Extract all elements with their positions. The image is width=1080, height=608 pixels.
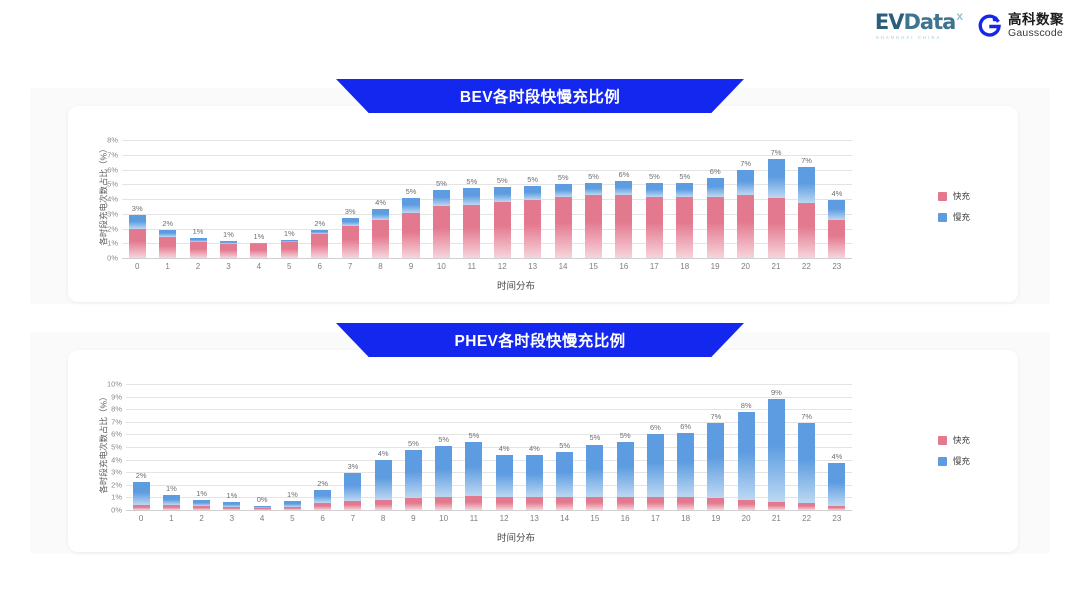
x-axis-tick: 22 xyxy=(802,514,811,523)
stacked-bar[interactable]: 5% xyxy=(463,188,480,258)
stacked-bar[interactable]: 4% xyxy=(375,460,392,510)
bar-group[interactable]: 6% xyxy=(700,140,730,258)
bar-segment-slow[interactable] xyxy=(344,473,361,500)
stacked-bar[interactable]: 5% xyxy=(556,452,573,510)
bar-segment-slow[interactable] xyxy=(676,183,693,197)
y-axis-tick: 2% xyxy=(111,480,122,489)
bar-segment-slow[interactable] xyxy=(556,452,573,497)
bar-segment-fast[interactable] xyxy=(647,497,664,510)
bar-value-label: 3% xyxy=(345,207,356,216)
x-axis-tick: 15 xyxy=(590,514,599,523)
chart-legend: 快充慢充 xyxy=(938,190,970,223)
x-axis-tick: 12 xyxy=(500,514,509,523)
bar-group[interactable]: 4% xyxy=(368,384,398,510)
bar-group[interactable]: 1% xyxy=(244,140,274,258)
legend-label: 慢充 xyxy=(953,211,970,223)
x-axis-tick: 4 xyxy=(257,262,261,271)
bar-segment-slow[interactable] xyxy=(372,209,389,221)
y-axis-tick: 0% xyxy=(111,506,122,515)
bar-segment-slow[interactable] xyxy=(163,495,180,505)
x-axis-tick: 20 xyxy=(742,514,751,523)
stacked-bar[interactable]: 1% xyxy=(163,495,180,510)
stacked-bar[interactable]: 4% xyxy=(526,455,543,510)
bar-group[interactable]: 5% xyxy=(426,140,456,258)
bar-group[interactable]: 9% xyxy=(761,384,791,510)
bar-segment-slow[interactable] xyxy=(314,490,331,504)
bar-group[interactable]: 5% xyxy=(639,140,669,258)
bar-group[interactable]: 3% xyxy=(335,140,365,258)
x-axis-label: 时间分布 xyxy=(96,530,936,544)
stacked-bar[interactable]: 8% xyxy=(738,412,755,510)
x-axis-tick: 19 xyxy=(711,514,720,523)
legend-item-slow[interactable]: 慢充 xyxy=(938,211,970,223)
gausscode-mark-icon xyxy=(977,14,1002,39)
bar-value-label: 1% xyxy=(166,484,177,493)
legend-item-fast[interactable]: 快充 xyxy=(938,434,970,446)
bar-segment-fast[interactable] xyxy=(646,197,663,258)
y-axis-tick: 5% xyxy=(107,180,118,189)
bar-segment-slow[interactable] xyxy=(707,178,724,196)
bar-segment-fast[interactable] xyxy=(159,237,176,258)
stacked-bar[interactable]: 1% xyxy=(250,243,267,258)
bar-segment-fast[interactable] xyxy=(524,200,541,258)
bar-group[interactable]: 1% xyxy=(213,140,243,258)
bar-segment-fast[interactable] xyxy=(129,229,146,258)
bar-group[interactable]: 5% xyxy=(487,140,517,258)
x-axis-tick: 20 xyxy=(741,262,750,271)
bar-segment-slow[interactable] xyxy=(798,167,815,203)
x-axis-tick: 9 xyxy=(409,262,413,271)
bar-segment-fast[interactable] xyxy=(375,500,392,510)
x-axis-tick: 6 xyxy=(320,514,324,523)
plot-area: 2%1%1%1%0%1%2%3%4%5%5%5%4%4%5%5%5%6%6%7%… xyxy=(126,384,852,510)
bar-value-label: 4% xyxy=(831,452,842,461)
bar-segment-slow[interactable] xyxy=(465,442,482,496)
bar-segment-slow[interactable] xyxy=(585,183,602,195)
bar-segment-fast[interactable] xyxy=(344,501,361,510)
x-axis-tick: 8 xyxy=(378,262,382,271)
bar-value-label: 1% xyxy=(196,489,207,498)
y-axis-tick: 4% xyxy=(107,195,118,204)
legend-swatch xyxy=(938,457,947,466)
bar-value-label: 1% xyxy=(226,491,237,500)
legend-swatch xyxy=(938,436,947,445)
stacked-bar[interactable]: 7% xyxy=(737,170,754,259)
x-axis-tick: 3 xyxy=(230,514,234,523)
bar-value-label: 5% xyxy=(406,187,417,196)
bar-segment-slow[interactable] xyxy=(555,184,572,197)
stacked-bar[interactable]: 6% xyxy=(707,178,724,258)
bar-segment-slow[interactable] xyxy=(524,186,541,200)
evdata-logo-part1: EV xyxy=(875,12,904,33)
bar-group[interactable]: 1% xyxy=(156,384,186,510)
bar-segment-fast[interactable] xyxy=(402,213,419,258)
bar-group[interactable]: 1% xyxy=(183,140,213,258)
x-axis-tick: 10 xyxy=(437,262,446,271)
x-axis-tick: 10 xyxy=(439,514,448,523)
phev-chart: 各时段充电次数占比（%）2%1%1%1%0%1%2%3%4%5%5%5%4%4%… xyxy=(96,376,936,544)
bar-segment-fast[interactable] xyxy=(463,205,480,258)
x-axis-tick: 19 xyxy=(711,262,720,271)
evdata-wordmark: EV Data x xyxy=(875,12,963,33)
y-axis-tick: 3% xyxy=(107,209,118,218)
y-axis-tick: 10% xyxy=(107,380,122,389)
x-axis-line xyxy=(126,510,852,511)
bar-segment-slow[interactable] xyxy=(405,450,422,499)
bar-group[interactable]: 1% xyxy=(187,384,217,510)
stacked-bar[interactable]: 4% xyxy=(828,200,845,258)
stacked-bar[interactable]: 2% xyxy=(159,230,176,258)
stacked-bar[interactable]: 5% xyxy=(586,445,603,511)
bar-value-label: 5% xyxy=(589,433,600,442)
bar-group[interactable]: 2% xyxy=(152,140,182,258)
bar-segment-fast[interactable] xyxy=(281,242,298,258)
bar-segment-slow[interactable] xyxy=(677,433,694,497)
stacked-bar[interactable]: 5% xyxy=(555,184,572,258)
x-axis-tick: 12 xyxy=(498,262,507,271)
bar-segment-fast[interactable] xyxy=(556,497,573,510)
stacked-bar[interactable]: 6% xyxy=(677,433,694,510)
x-axis-tick: 16 xyxy=(621,514,630,523)
bar-group[interactable]: 2% xyxy=(126,384,156,510)
bev-chart-title: BEV各时段快慢充比例 xyxy=(336,79,744,113)
bar-group[interactable]: 5% xyxy=(548,140,578,258)
bar-segment-fast[interactable] xyxy=(250,244,267,258)
legend-swatch xyxy=(938,192,947,201)
stacked-bar[interactable]: 7% xyxy=(798,423,815,510)
bar-group[interactable]: 7% xyxy=(761,140,791,258)
bar-value-label: 1% xyxy=(253,232,264,241)
bar-value-label: 2% xyxy=(162,219,173,228)
y-axis-tick: 6% xyxy=(111,430,122,439)
bar-segment-fast[interactable] xyxy=(707,197,724,258)
bar-group[interactable]: 1% xyxy=(274,140,304,258)
bar-segment-fast[interactable] xyxy=(798,203,815,258)
y-axis-tick: 4% xyxy=(111,455,122,464)
bar-group[interactable]: 5% xyxy=(457,140,487,258)
logo-group: EV Data x SHANGHAI CHINA 高科数聚 Gausscode xyxy=(875,12,1064,40)
bar-segment-slow[interactable] xyxy=(433,190,450,205)
plot-area: 3%2%1%1%1%1%2%3%4%5%5%5%5%5%5%5%6%5%5%6%… xyxy=(122,140,852,258)
stacked-bar[interactable]: 5% xyxy=(402,198,419,258)
x-axis-tick: 0 xyxy=(139,514,143,523)
y-axis-label: 各时段充电次数占比（%） xyxy=(96,376,112,510)
bar-value-label: 5% xyxy=(466,177,477,186)
stacked-bar[interactable]: 5% xyxy=(646,183,663,258)
stacked-bar[interactable]: 3% xyxy=(129,215,146,258)
y-axis-tick: 3% xyxy=(111,468,122,477)
bar-segment-slow[interactable] xyxy=(768,399,785,502)
bar-value-label: 4% xyxy=(831,189,842,198)
bar-segment-slow[interactable] xyxy=(828,463,845,506)
bar-segment-slow[interactable] xyxy=(617,442,634,497)
bar-group[interactable]: 8% xyxy=(731,384,761,510)
bar-segment-fast[interactable] xyxy=(585,195,602,258)
x-axis-tick: 18 xyxy=(681,514,690,523)
chart-legend: 快充慢充 xyxy=(938,434,970,467)
bar-segment-slow[interactable] xyxy=(646,183,663,197)
bar-value-label: 2% xyxy=(136,471,147,480)
stacked-bar[interactable]: 6% xyxy=(615,181,632,258)
x-axis-tick: 13 xyxy=(528,262,537,271)
bar-segment-fast[interactable] xyxy=(768,198,785,258)
x-axis-tick: 14 xyxy=(560,514,569,523)
x-axis-tick: 6 xyxy=(317,262,321,271)
stacked-bar[interactable]: 5% xyxy=(465,442,482,510)
bar-segment-fast[interactable] xyxy=(465,496,482,510)
stacked-bar[interactable]: 6% xyxy=(647,434,664,510)
bar-segment-fast[interactable] xyxy=(798,503,815,510)
bar-segment-slow[interactable] xyxy=(737,170,754,196)
x-axis-tick: 2 xyxy=(196,262,200,271)
x-axis-tick: 17 xyxy=(650,262,659,271)
bar-segment-fast[interactable] xyxy=(768,502,785,510)
bar-value-label: 5% xyxy=(438,435,449,444)
stacked-bar[interactable]: 2% xyxy=(133,482,150,510)
stacked-bar[interactable]: 4% xyxy=(372,209,389,258)
bar-value-label: 8% xyxy=(741,401,752,410)
x-axis-tick: 23 xyxy=(832,514,841,523)
y-axis-tick: 8% xyxy=(107,136,118,145)
bar-value-label: 6% xyxy=(680,422,691,431)
evdata-x-icon: x xyxy=(956,10,963,22)
stacked-bar[interactable]: 7% xyxy=(707,423,724,510)
stacked-bar[interactable]: 5% xyxy=(617,442,634,510)
bar-value-label: 2% xyxy=(314,219,325,228)
stacked-bar[interactable]: 5% xyxy=(494,187,511,258)
legend-item-slow[interactable]: 慢充 xyxy=(938,455,970,467)
bar-value-label: 7% xyxy=(801,412,812,421)
bar-segment-slow[interactable] xyxy=(435,446,452,498)
bar-segment-fast[interactable] xyxy=(133,505,150,510)
bar-segment-fast[interactable] xyxy=(342,226,359,258)
stacked-bar[interactable]: 4% xyxy=(496,455,513,510)
bar-segment-fast[interactable] xyxy=(617,497,634,510)
bar-segment-fast[interactable] xyxy=(190,242,207,258)
bar-group[interactable]: 6% xyxy=(640,384,670,510)
bar-segment-fast[interactable] xyxy=(828,220,845,258)
stacked-bar[interactable]: 2% xyxy=(314,490,331,510)
bar-value-label: 5% xyxy=(497,176,508,185)
bar-segment-slow[interactable] xyxy=(707,423,724,498)
stacked-bar[interactable]: 1% xyxy=(193,500,210,510)
bar-value-label: 2% xyxy=(317,479,328,488)
bar-group[interactable]: 6% xyxy=(609,140,639,258)
y-axis-tick: 7% xyxy=(111,417,122,426)
stacked-bar[interactable]: 1% xyxy=(190,238,207,258)
bar-value-label: 5% xyxy=(649,172,660,181)
bar-value-label: 7% xyxy=(801,156,812,165)
stacked-bar[interactable]: 9% xyxy=(768,399,785,510)
legend-item-fast[interactable]: 快充 xyxy=(938,190,970,202)
bar-group[interactable]: 5% xyxy=(398,384,428,510)
evdata-logo-part2: Data xyxy=(904,12,956,33)
bar-group[interactable]: 0% xyxy=(247,384,277,510)
bar-segment-fast[interactable] xyxy=(676,197,693,258)
bar-group[interactable]: 5% xyxy=(580,384,610,510)
y-axis-tick: 2% xyxy=(107,224,118,233)
bar-segment-fast[interactable] xyxy=(615,195,632,258)
y-axis-tick: 8% xyxy=(111,405,122,414)
bar-segment-fast[interactable] xyxy=(828,506,845,510)
bar-value-label: 3% xyxy=(132,204,143,213)
bar-group[interactable]: 3% xyxy=(338,384,368,510)
x-axis-tick: 2 xyxy=(199,514,203,523)
bar-group[interactable]: 7% xyxy=(701,384,731,510)
bar-group[interactable]: 4% xyxy=(489,384,519,510)
bar-segment-fast[interactable] xyxy=(494,202,511,258)
bar-segment-fast[interactable] xyxy=(163,505,180,510)
bar-value-label: 5% xyxy=(588,172,599,181)
bar-segment-fast[interactable] xyxy=(223,507,240,510)
x-axis-tick: 3 xyxy=(226,262,230,271)
bar-segment-slow[interactable] xyxy=(133,482,150,504)
bar-value-label: 1% xyxy=(284,229,295,238)
bar-segment-fast[interactable] xyxy=(372,220,389,258)
bar-group[interactable]: 2% xyxy=(305,140,335,258)
stacked-bar[interactable]: 1% xyxy=(281,240,298,258)
evdata-logo-subtitle: SHANGHAI CHINA xyxy=(875,36,941,40)
bar-segment-fast[interactable] xyxy=(738,500,755,510)
bar-group[interactable]: 7% xyxy=(730,140,760,258)
legend-swatch xyxy=(938,213,947,222)
stacked-bar[interactable]: 5% xyxy=(435,446,452,511)
stacked-bar[interactable]: 5% xyxy=(405,450,422,510)
bar-value-label: 1% xyxy=(223,230,234,239)
bar-segment-slow[interactable] xyxy=(526,455,543,498)
stacked-bar[interactable]: 2% xyxy=(311,230,328,258)
bar-value-label: 7% xyxy=(710,412,721,421)
bar-group[interactable]: 7% xyxy=(792,384,822,510)
stacked-bar[interactable]: 5% xyxy=(585,183,602,258)
bar-group[interactable]: 4% xyxy=(822,384,852,510)
bar-segment-slow[interactable] xyxy=(828,200,845,220)
bar-group[interactable]: 4% xyxy=(519,384,549,510)
bar-segment-slow[interactable] xyxy=(129,215,146,229)
bar-segment-fast[interactable] xyxy=(220,244,237,258)
x-axis-tick: 7 xyxy=(348,262,352,271)
x-axis-tick: 21 xyxy=(772,262,781,271)
x-axis-tick: 17 xyxy=(651,514,660,523)
x-axis-tick: 5 xyxy=(287,262,291,271)
stacked-bar[interactable]: 5% xyxy=(524,186,541,258)
bar-group[interactable]: 3% xyxy=(122,140,152,258)
x-axis-tick: 11 xyxy=(468,262,476,271)
bar-value-label: 4% xyxy=(375,198,386,207)
bar-value-label: 5% xyxy=(620,431,631,440)
bar-segment-fast[interactable] xyxy=(284,507,301,510)
x-axis-tick: 15 xyxy=(589,262,598,271)
stacked-bar[interactable]: 0% xyxy=(254,506,271,510)
bar-group[interactable]: 1% xyxy=(217,384,247,510)
bar-segment-slow[interactable] xyxy=(402,198,419,213)
bar-segment-slow[interactable] xyxy=(768,159,785,198)
bar-segment-fast[interactable] xyxy=(435,497,452,510)
bar-value-label: 4% xyxy=(529,444,540,453)
y-axis-tick: 0% xyxy=(107,254,118,263)
y-axis-label-text: 各时段充电次数占比（%） xyxy=(98,392,110,493)
stacked-bar[interactable]: 7% xyxy=(768,159,785,258)
bar-group[interactable]: 7% xyxy=(791,140,821,258)
stacked-bar[interactable]: 5% xyxy=(676,183,693,258)
bev-chart: 各时段充电次数占比（%）3%2%1%1%1%1%2%3%4%5%5%5%5%5%… xyxy=(96,132,936,292)
bar-segment-slow[interactable] xyxy=(494,187,511,202)
bar-group[interactable]: 5% xyxy=(550,384,580,510)
bar-group[interactable]: 4% xyxy=(822,140,852,258)
bar-group[interactable]: 4% xyxy=(365,140,395,258)
y-axis-tick: 9% xyxy=(111,392,122,401)
gausscode-logo: 高科数聚 Gausscode xyxy=(977,13,1064,39)
bar-segment-fast[interactable] xyxy=(314,503,331,510)
y-axis-tick: 1% xyxy=(107,239,118,248)
bar-segment-slow[interactable] xyxy=(342,218,359,226)
bar-segment-fast[interactable] xyxy=(707,498,724,510)
bar-segment-slow[interactable] xyxy=(463,188,480,205)
stacked-bar[interactable]: 5% xyxy=(433,190,450,258)
bar-segment-fast[interactable] xyxy=(311,234,328,258)
bar-value-label: 5% xyxy=(468,431,479,440)
bar-group[interactable]: 5% xyxy=(517,140,547,258)
bar-group[interactable]: 6% xyxy=(671,384,701,510)
bar-group[interactable]: 5% xyxy=(459,384,489,510)
bar-segment-fast[interactable] xyxy=(193,506,210,510)
bar-group[interactable]: 5% xyxy=(396,140,426,258)
bar-segment-slow[interactable] xyxy=(798,423,815,503)
x-axis-tick: 23 xyxy=(832,262,841,271)
bar-segment-fast[interactable] xyxy=(677,497,694,510)
bar-segment-slow[interactable] xyxy=(647,434,664,497)
stacked-bar[interactable]: 3% xyxy=(344,473,361,510)
legend-label: 快充 xyxy=(953,190,970,202)
bar-segment-slow[interactable] xyxy=(496,455,513,498)
x-axis-tick: 0 xyxy=(135,262,139,271)
bar-segment-fast[interactable] xyxy=(526,497,543,510)
bar-group[interactable]: 1% xyxy=(277,384,307,510)
bar-group[interactable]: 5% xyxy=(670,140,700,258)
bar-segment-fast[interactable] xyxy=(254,508,271,510)
stacked-bar[interactable]: 3% xyxy=(342,218,359,258)
bar-segment-slow[interactable] xyxy=(615,181,632,194)
bar-segment-slow[interactable] xyxy=(738,412,755,500)
bar-segment-fast[interactable] xyxy=(737,195,754,258)
bar-segment-fast[interactable] xyxy=(555,197,572,258)
bar-group[interactable]: 5% xyxy=(578,140,608,258)
bar-group[interactable]: 5% xyxy=(610,384,640,510)
stacked-bar[interactable]: 4% xyxy=(828,463,845,510)
bar-segment-slow[interactable] xyxy=(375,460,392,500)
stacked-bar[interactable]: 1% xyxy=(220,241,237,258)
bar-segment-slow[interactable] xyxy=(586,445,603,497)
gausscode-text: 高科数聚 Gausscode xyxy=(1008,13,1064,39)
bar-value-label: 5% xyxy=(559,441,570,450)
gausscode-name-en: Gausscode xyxy=(1008,28,1064,39)
stacked-bar[interactable]: 7% xyxy=(798,167,815,258)
bar-group[interactable]: 5% xyxy=(429,384,459,510)
bar-value-label: 6% xyxy=(619,170,630,179)
bar-segment-slow[interactable] xyxy=(159,230,176,237)
bar-segment-fast[interactable] xyxy=(586,497,603,510)
stacked-bar[interactable]: 1% xyxy=(284,501,301,510)
x-axis-tick: 14 xyxy=(559,262,568,271)
bar-segment-fast[interactable] xyxy=(433,206,450,258)
page-header: EV Data x SHANGHAI CHINA 高科数聚 Gausscode xyxy=(0,0,1080,64)
y-axis-tick: 1% xyxy=(111,493,122,502)
bar-group[interactable]: 2% xyxy=(308,384,338,510)
y-axis-tick: 6% xyxy=(107,165,118,174)
bar-segment-fast[interactable] xyxy=(405,498,422,510)
bar-segment-fast[interactable] xyxy=(496,497,513,510)
stacked-bar[interactable]: 1% xyxy=(223,502,240,510)
